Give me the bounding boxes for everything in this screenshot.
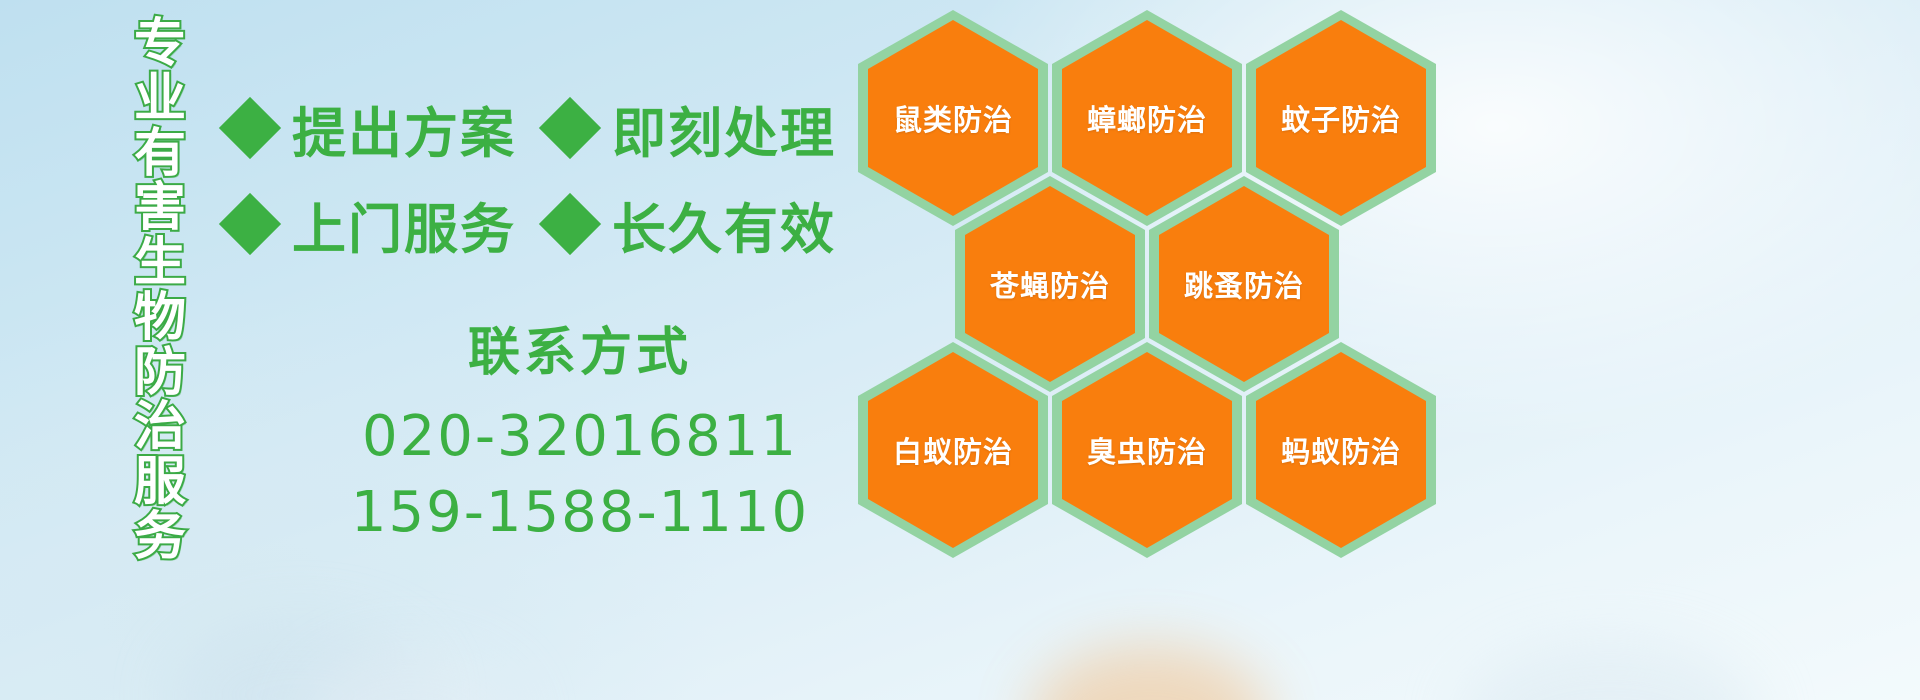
feature-item: 即刻处理 xyxy=(548,89,836,168)
feature-label: 上门服务 xyxy=(292,185,516,264)
service-hex-label: 臭虫防治 xyxy=(1087,429,1207,471)
service-hex-label: 蚂蚁防治 xyxy=(1281,429,1401,471)
service-hex-label: 蚊子防治 xyxy=(1281,97,1401,139)
phone-number-mobile[interactable]: 159-1588-1110 xyxy=(300,475,860,551)
vertical-headline-char: 专 xyxy=(134,18,186,70)
vertical-headline-char: 治 xyxy=(134,401,186,453)
diamond-bullet-icon xyxy=(539,193,601,255)
service-hex-grid: 鼠类防治 蟑螂防治 蚊子防治 苍蝇防治 跳蚤防治 白蚁防治 xyxy=(858,4,1458,552)
feature-label: 提出方案 xyxy=(292,89,516,168)
service-hex-label: 蟑螂防治 xyxy=(1087,97,1207,139)
decorative-blob xyxy=(1460,640,1760,700)
vertical-headline-char: 物 xyxy=(134,292,186,344)
feature-item: 长久有效 xyxy=(548,185,836,264)
feature-item: 提出方案 xyxy=(228,89,548,168)
feature-label: 即刻处理 xyxy=(612,89,836,168)
service-hex-ant[interactable]: 蚂蚁防治 xyxy=(1246,342,1436,558)
service-hex-label: 白蚁防治 xyxy=(893,429,1013,471)
contact-block: 联系方式 020-32016811 159-1588-1110 xyxy=(300,310,860,551)
pest-control-banner: 专 业 有 害 生 物 防 治 服 务 提出方案 即刻处理 上门服务 xyxy=(0,0,1920,700)
service-hex-bedbug[interactable]: 臭虫防治 xyxy=(1052,342,1242,558)
vertical-headline-char: 服 xyxy=(134,456,186,508)
decorative-blob xyxy=(300,650,520,700)
vertical-headline-char: 防 xyxy=(134,347,186,399)
service-hex-label: 跳蚤防治 xyxy=(1184,263,1304,305)
vertical-headline-char: 业 xyxy=(134,73,186,125)
decorative-blob xyxy=(170,620,430,700)
diamond-bullet-icon xyxy=(219,193,281,255)
vertical-headline-char: 害 xyxy=(134,182,186,234)
vertical-headline-char: 生 xyxy=(134,237,186,289)
feature-list: 提出方案 即刻处理 上门服务 长久有效 xyxy=(228,80,868,272)
service-hex-label: 鼠类防治 xyxy=(893,97,1013,139)
diamond-bullet-icon xyxy=(539,97,601,159)
feature-label: 长久有效 xyxy=(612,185,836,264)
contact-title: 联系方式 xyxy=(300,310,860,385)
diamond-bullet-icon xyxy=(219,97,281,159)
vertical-headline-char: 有 xyxy=(134,128,186,180)
service-hex-label: 苍蝇防治 xyxy=(990,263,1110,305)
vertical-headline: 专 业 有 害 生 物 防 治 服 务 xyxy=(108,18,212,563)
feature-item: 上门服务 xyxy=(228,185,548,264)
feature-row: 上门服务 长久有效 xyxy=(228,176,868,272)
service-hex-termite[interactable]: 白蚁防治 xyxy=(858,342,1048,558)
feature-row: 提出方案 即刻处理 xyxy=(228,80,868,176)
decorative-blob xyxy=(1030,645,1270,700)
vertical-headline-char: 务 xyxy=(134,511,186,563)
phone-number-landline[interactable]: 020-32016811 xyxy=(300,399,860,475)
